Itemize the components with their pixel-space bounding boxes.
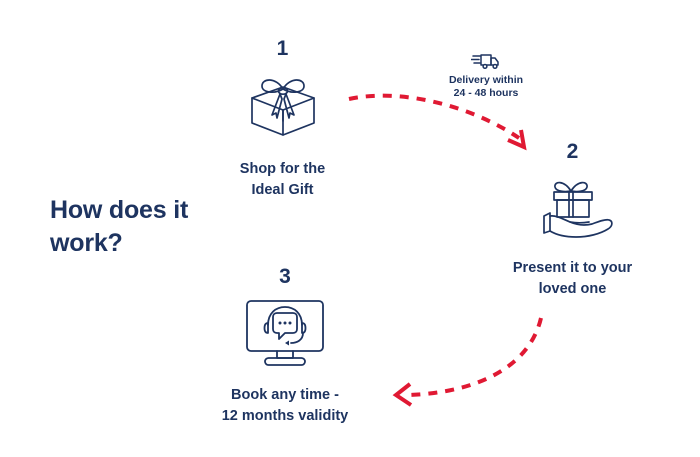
hand-holding-gift-icon (495, 168, 650, 246)
step-1: 1 (205, 38, 360, 200)
step-2: 2 (495, 141, 650, 299)
how-it-works-infographic: How does it work? 1 (0, 0, 700, 457)
step-3: 3 (205, 266, 365, 426)
gift-box-icon (205, 65, 360, 147)
arrow-step2-to-step3 (396, 318, 541, 405)
delivery-truck-icon (431, 50, 541, 72)
delivery-note-text: Delivery within 24 - 48 hours (431, 74, 541, 101)
step-1-number: 1 (205, 38, 360, 59)
step-3-number: 3 (205, 266, 365, 287)
step-2-caption: Present it to your loved one (495, 258, 650, 299)
delivery-note: Delivery within 24 - 48 hours (431, 50, 541, 101)
arrow-step1-to-step2 (349, 96, 524, 147)
step-2-number: 2 (495, 141, 650, 162)
step-3-caption: Book any time - 12 months validity (205, 385, 365, 426)
monitor-support-chat-icon (205, 293, 365, 373)
step-1-caption: Shop for the Ideal Gift (205, 159, 360, 200)
page-title: How does it work? (50, 194, 240, 260)
